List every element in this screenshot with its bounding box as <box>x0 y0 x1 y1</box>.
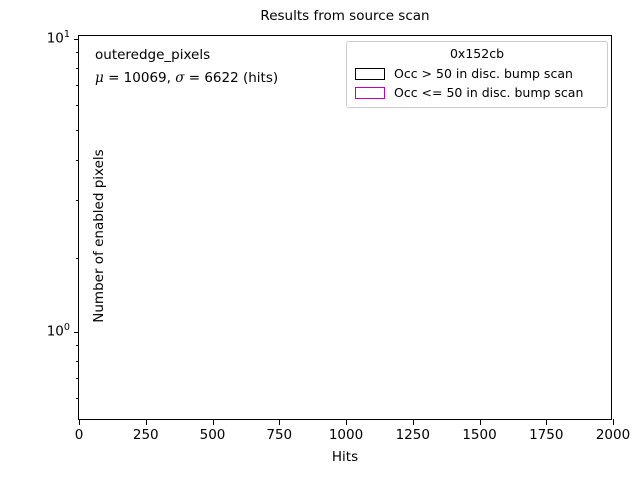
y-tick-major-10e1 <box>74 39 80 40</box>
y-tick-minor-8 <box>76 68 79 69</box>
x-tick-major-0 <box>79 419 80 425</box>
sigma-value: = 6622 (hits) <box>184 70 278 86</box>
annotation-module-name: outeredge_pixels <box>95 44 278 67</box>
x-tick-major-2000 <box>613 419 614 425</box>
plot-area[interactable]: Number of enabled pixels 101 100 0 250 5… <box>78 35 612 420</box>
x-tick-major-750 <box>279 419 280 425</box>
legend-label-occ-gt-50: Occ > 50 in disc. bump scan <box>394 66 573 82</box>
x-tick-label-1500: 1500 <box>462 427 496 443</box>
mu-value: = 10069, <box>104 70 175 86</box>
y-tick-minor-2 <box>76 258 79 259</box>
y-tick-minor-5 <box>76 130 79 131</box>
x-tick-label-2000: 2000 <box>596 427 630 443</box>
y-tick-minor-8-low <box>76 361 79 362</box>
y-tick-exponent-1: 1 <box>64 29 70 40</box>
x-tick-label-250: 250 <box>133 427 159 443</box>
y-tick-minor-3 <box>76 200 79 201</box>
y-tick-minor-9 <box>76 52 79 53</box>
x-tick-major-1000 <box>346 419 347 425</box>
y-tick-minor-6-low <box>76 398 79 399</box>
legend-entry-occ-le-50[interactable]: Occ <= 50 in disc. bump scan <box>355 83 599 102</box>
x-tick-label-750: 750 <box>266 427 292 443</box>
y-tick-minor-4 <box>76 160 79 161</box>
legend-label-occ-le-50: Occ <= 50 in disc. bump scan <box>394 85 583 101</box>
annotation-stats: μ = 10069, σ = 6622 (hits) <box>95 67 278 90</box>
y-tick-minor-7-low <box>76 378 79 379</box>
legend-title: 0x152cb <box>355 46 599 62</box>
x-tick-major-250 <box>146 419 147 425</box>
figure-canvas: Results from source scan Number of enabl… <box>0 0 640 480</box>
annotation-text-block: outeredge_pixels μ = 10069, σ = 6622 (hi… <box>95 44 278 90</box>
legend-swatch-black-icon <box>355 68 385 80</box>
x-tick-major-500 <box>213 419 214 425</box>
y-tick-minor-9-low <box>76 345 79 346</box>
x-tick-label-500: 500 <box>200 427 226 443</box>
legend-box[interactable]: 0x152cb Occ > 50 in disc. bump scan Occ … <box>346 41 608 108</box>
y-tick-minor-7 <box>76 85 79 86</box>
y-tick-exponent-0: 0 <box>64 322 70 333</box>
x-tick-label-1000: 1000 <box>329 427 363 443</box>
chart-title: Results from source scan <box>78 8 612 24</box>
y-tick-label-10e1: 101 <box>47 32 70 46</box>
mu-symbol: μ <box>95 70 104 86</box>
x-tick-major-1500 <box>480 419 481 425</box>
y-axis-label: Number of enabled pixels <box>91 36 107 436</box>
legend-entry-occ-gt-50[interactable]: Occ > 50 in disc. bump scan <box>355 64 599 83</box>
x-tick-major-1750 <box>546 419 547 425</box>
y-tick-minor-6 <box>76 105 79 106</box>
y-tick-label-10e0: 100 <box>47 325 70 339</box>
y-tick-major-10e0 <box>74 332 80 333</box>
x-tick-label-0: 0 <box>75 427 84 443</box>
x-axis-label: Hits <box>79 449 611 465</box>
x-tick-label-1750: 1750 <box>529 427 563 443</box>
x-tick-major-1250 <box>413 419 414 425</box>
legend-swatch-magenta-icon <box>355 87 385 99</box>
x-tick-label-1250: 1250 <box>396 427 430 443</box>
